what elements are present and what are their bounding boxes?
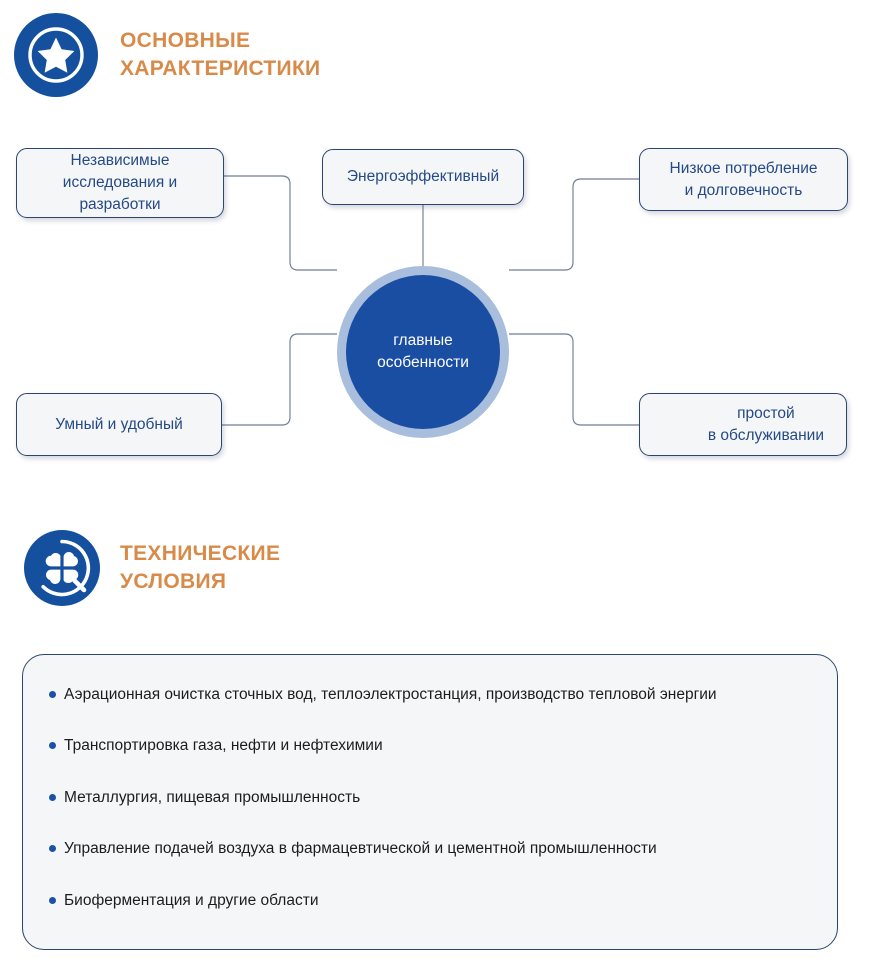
diagram-node-low-consumption: Низкое потребление и долговечность [639, 148, 848, 211]
section-title-features: ОСНОВНЫЕ ХАРАКТЕРИСТИКИ [120, 27, 320, 82]
diagram-node-label: Энергоэффективный [347, 166, 499, 188]
section-header-specs: ТЕХНИЧЕСКИЕ УСЛОВИЯ [24, 530, 280, 606]
list-item-label: Транспортировка газа, нефти и нефтехимии [64, 736, 383, 755]
diagram-node-smart-convenient: Умный и удобный [16, 393, 222, 456]
list-item: Металлургия, пищевая промышленность [49, 788, 811, 807]
diagram-node-label: Умный и удобный [55, 414, 183, 436]
list-item: Биоферментация и другие области [49, 891, 811, 910]
list-item-label: Биоферментация и другие области [64, 891, 318, 910]
diagram-center-circle: главные особенности [337, 266, 509, 438]
diagram-node-easy-maintenance: простой в обслуживании [639, 393, 847, 456]
star-badge-icon [14, 13, 98, 97]
bullet-icon [49, 742, 56, 749]
list-item: Аэрационная очистка сточных вод, теплоэл… [49, 685, 811, 704]
list-item-label: Управление подачей воздуха в фармацевтич… [64, 839, 657, 858]
diagram-node-rnd: Независимые исследования и разработки [16, 148, 224, 218]
section-title-specs: ТЕХНИЧЕСКИЕ УСЛОВИЯ [120, 540, 280, 595]
bullet-icon [49, 845, 56, 852]
diagram-node-energy-efficient: Энергоэффективный [322, 149, 524, 205]
list-item: Транспортировка газа, нефти и нефтехимии [49, 736, 811, 755]
diagram-node-label: простой в обслуживании [708, 403, 824, 447]
diagram-center-label: главные особенности [346, 275, 500, 429]
section-header-features: ОСНОВНЫЕ ХАРАКТЕРИСТИКИ [14, 13, 320, 97]
diagram-node-label: Низкое потребление и долговечность [670, 158, 818, 202]
diagram-node-label: Независимые исследования и разработки [63, 150, 177, 216]
bullet-icon [49, 691, 56, 698]
list-item-label: Металлургия, пищевая промышленность [64, 788, 360, 807]
list-item: Управление подачей воздуха в фармацевтич… [49, 839, 811, 858]
list-item-label: Аэрационная очистка сточных вод, теплоэл… [64, 685, 717, 704]
bullet-icon [49, 794, 56, 801]
clover-magnifier-badge-icon [24, 530, 100, 606]
features-mindmap-diagram: Независимые исследования и разработки Эн… [0, 130, 893, 480]
bullet-icon [49, 897, 56, 904]
specs-list-container: Аэрационная очистка сточных вод, теплоэл… [22, 654, 838, 950]
